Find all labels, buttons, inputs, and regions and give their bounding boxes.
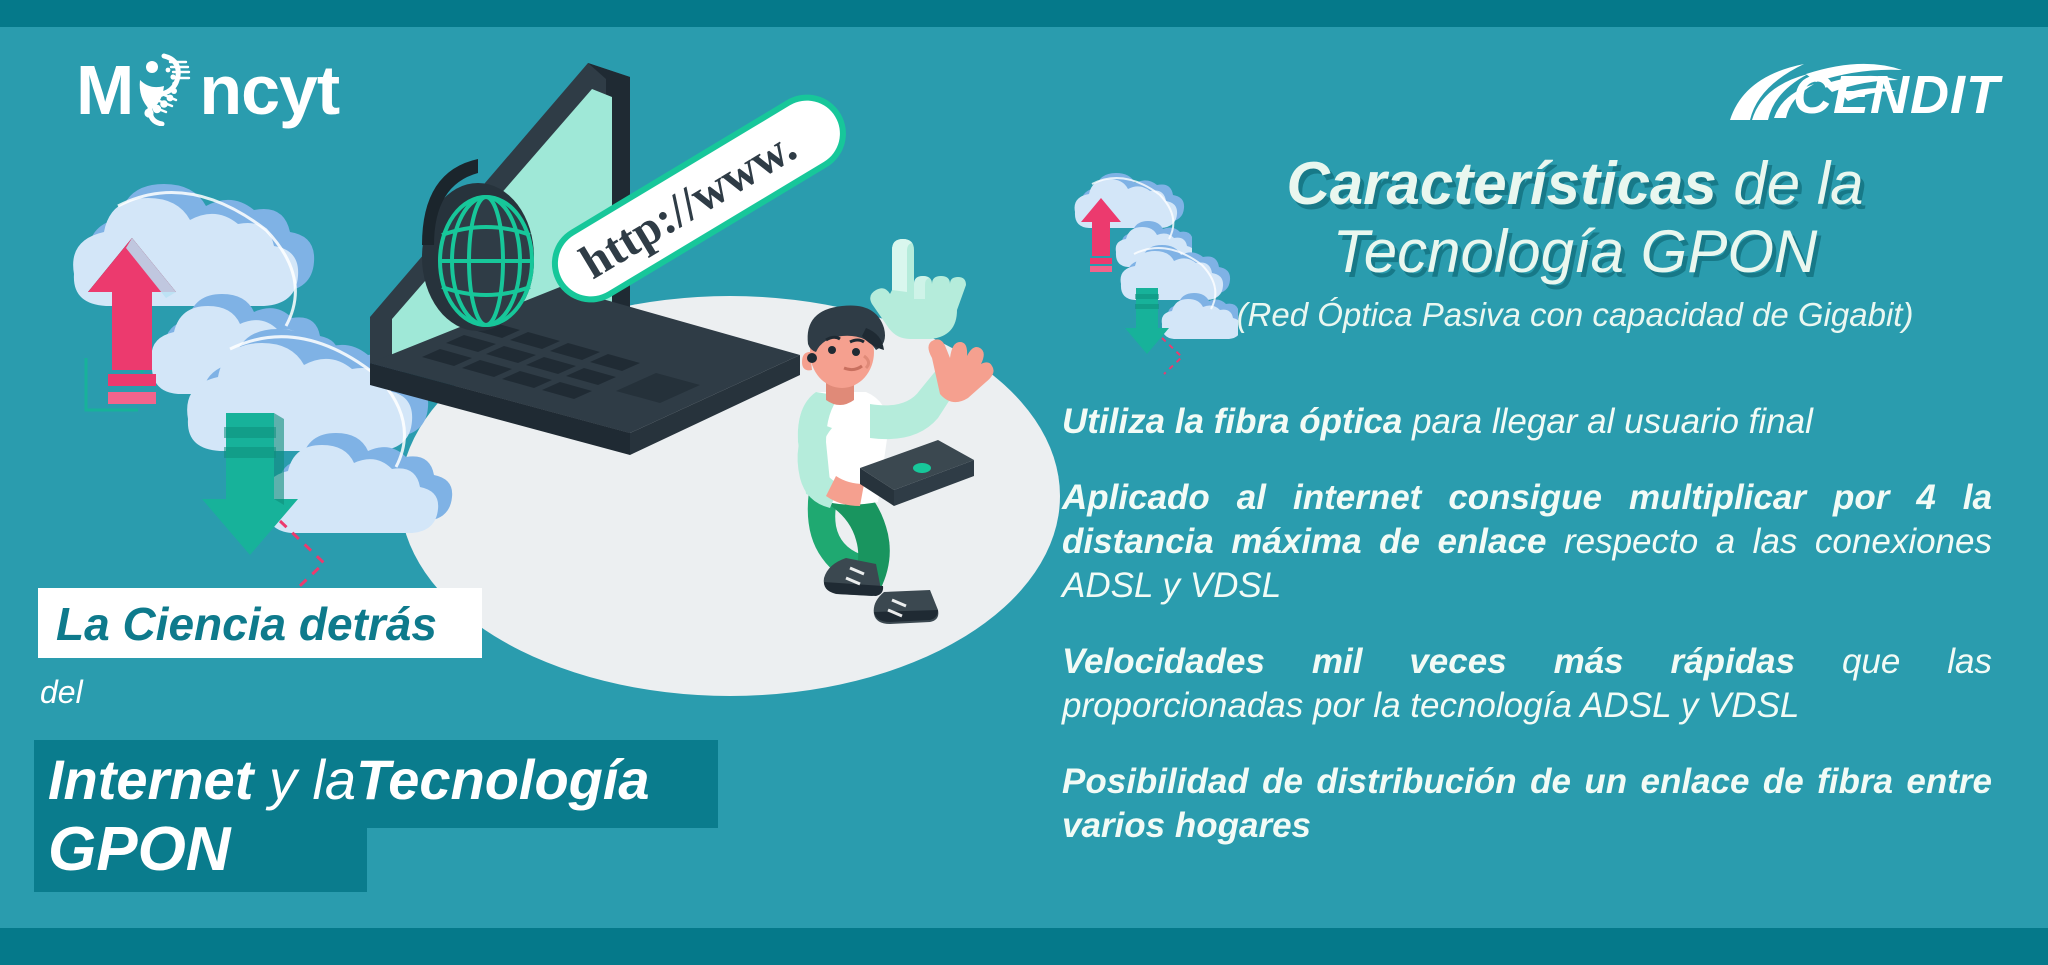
headline-line-1: Características de la — [1150, 150, 2000, 218]
tagline-connector: del — [40, 672, 83, 712]
bottom-accent-bar — [0, 928, 2048, 965]
feature-item: Aplicado al internet consigue multiplica… — [1062, 476, 1992, 608]
right-content-column: Características de la Tecnología GPON (R… — [1060, 150, 2000, 336]
feature-bold-text: Utiliza la fibra óptica — [1062, 402, 1402, 441]
dna-human-figure-icon — [130, 50, 196, 126]
main-title-internet: Internet — [48, 748, 253, 811]
feature-bold-text: Posibilidad de distribución de un enlace… — [1062, 762, 1992, 845]
top-accent-bar — [0, 0, 2048, 27]
main-title-tecnologia: Tecnología — [356, 748, 650, 811]
mincyt-letter-m: M — [76, 51, 133, 129]
tagline-text: La Ciencia detrás — [56, 596, 496, 652]
headline-line-2: Tecnología GPON — [1150, 218, 2000, 286]
infographic-canvas: http://www. — [0, 0, 2048, 965]
mincyt-wordmark: Mncyt — [76, 48, 376, 132]
cendit-logo: CENDIT — [1720, 58, 2000, 132]
main-title-line-2: GPON — [48, 810, 231, 890]
feature-light-text: para llegar al usuario final — [1402, 402, 1813, 441]
headline-subtitle: (Red Óptica Pasiva con capacidad de Giga… — [1150, 294, 2000, 336]
cendit-wordmark: CENDIT — [1793, 64, 2000, 126]
headline-de-la: de la — [1717, 150, 1864, 217]
headline-caracteristicas: Características — [1286, 150, 1716, 217]
feature-bold-text: Velocidades mil veces más rápidas — [1062, 642, 1795, 681]
feature-item: Posibilidad de distribución de un enlace… — [1062, 760, 1992, 848]
seated-person-with-laptop-icon — [760, 300, 1040, 640]
main-title-conjunction: y la — [253, 748, 356, 811]
mincyt-letters-ncyt: ncyt — [199, 51, 339, 129]
feature-item: Velocidades mil veces más rápidas que la… — [1062, 640, 1992, 728]
mincyt-logo: Mncyt — [76, 48, 376, 132]
feature-list: Utiliza la fibra óptica para llegar al u… — [1062, 400, 1992, 848]
main-title-line-1: Internet y laTecnología — [48, 742, 650, 818]
feature-item: Utiliza la fibra óptica para llegar al u… — [1062, 400, 1992, 444]
